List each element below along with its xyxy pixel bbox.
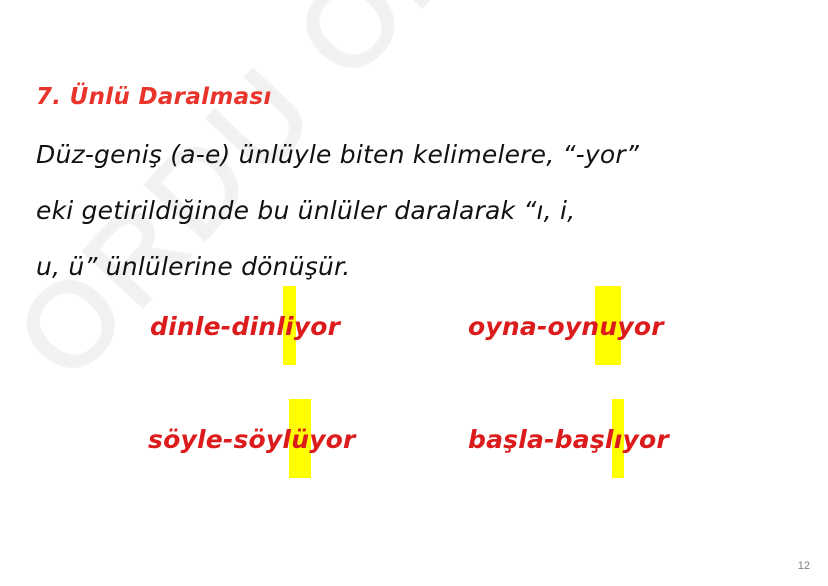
example-suffix: yor [622, 425, 668, 454]
example-word: dinle-dinliyor [150, 312, 340, 341]
example-suffix: yor [294, 312, 340, 341]
slide-content: 7. Ünlü Daralması Düz-geniş (a-e) ünlüyl… [0, 0, 828, 586]
example-prefix: başla-başl [468, 425, 614, 454]
body-line: Düz-geniş (a-e) ünlüyle biten kelimelere… [36, 140, 639, 169]
example-prefix: söyle-söyl [148, 425, 291, 454]
body-line: eki getirildiğinde bu ünlüler daralarak … [36, 196, 575, 225]
page-number: 12 [798, 560, 810, 572]
example-prefix: oyna-oyn [468, 312, 599, 341]
example-word: söyle-söylüyor [148, 425, 356, 454]
highlighted-vowel: ı [614, 425, 623, 454]
example-word: oyna-oynuyor [468, 312, 664, 341]
example-suffix: yor [617, 312, 663, 341]
example-word: başla-başlıyor [468, 425, 669, 454]
highlighted-vowel: u [599, 312, 617, 341]
example-suffix: yor [309, 425, 355, 454]
body-line: u, ü” ünlülerine dönüşür. [36, 252, 350, 281]
example-prefix: dinle-dinl [150, 312, 285, 341]
page-title: 7. Ünlü Daralması [36, 84, 272, 110]
slide-canvas: ORDU ODM 7. Ünlü Daralması Düz-geniş (a-… [0, 0, 828, 586]
highlighted-vowel: i [285, 312, 294, 341]
highlighted-vowel: ü [291, 425, 309, 454]
